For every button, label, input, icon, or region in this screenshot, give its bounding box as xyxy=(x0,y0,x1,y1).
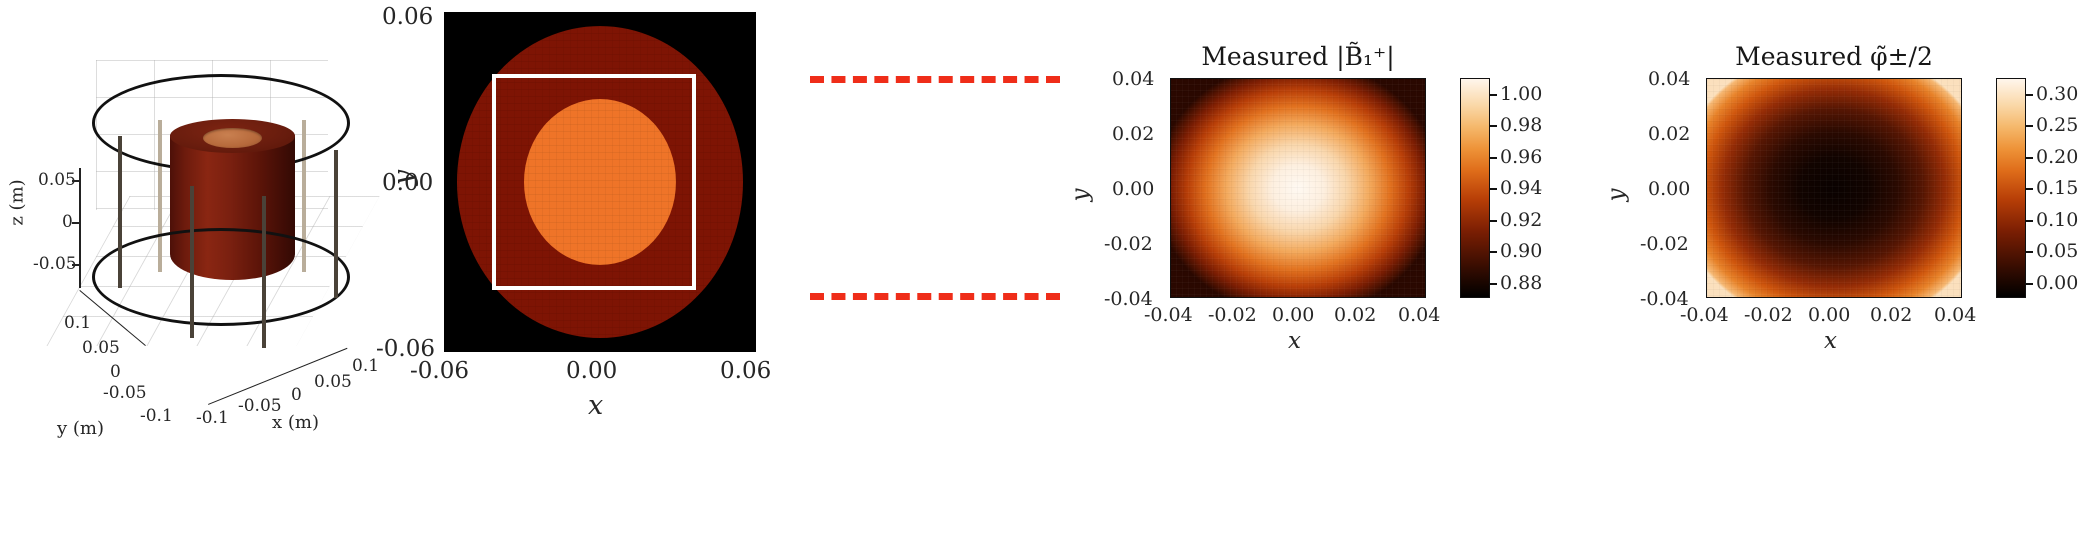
z-tick-label: -0.05 xyxy=(33,254,77,274)
x-axis-label: x xyxy=(588,390,603,421)
z-axis-line xyxy=(79,168,81,288)
y-tick-label: 0.1 xyxy=(64,313,91,333)
y-tick-label: 0.06 xyxy=(382,4,433,30)
coil-rung xyxy=(262,196,266,348)
connector-line-bottom xyxy=(810,293,1060,300)
heatmap-noise xyxy=(1706,78,1962,298)
x-tick-label: 0.04 xyxy=(1934,304,1976,326)
coil-rung xyxy=(190,186,194,338)
x-tick-label: 0.00 xyxy=(566,358,617,384)
z-tick-label: 0.05 xyxy=(38,170,76,190)
x-tick-label: -0.04 xyxy=(1680,304,1729,326)
colorbar-tick xyxy=(2026,251,2033,253)
x-axis-label: x (m) xyxy=(272,412,319,433)
panel-mask-map: 0.06 0.00 -0.06 y -0.06 0.00 0.06 x xyxy=(380,0,810,440)
z-tick-label: 0 xyxy=(62,212,73,232)
y-axis-label: y (m) xyxy=(57,418,104,439)
colorbar-tick xyxy=(1490,251,1497,253)
colorbar-tick-label: 0.05 xyxy=(2036,240,2078,262)
y-tick-label: 0.00 xyxy=(1648,178,1690,200)
colorbar-tick xyxy=(2026,94,2033,96)
y-axis-label: y xyxy=(388,170,419,185)
panel-title: Measured |B̃₁⁺| xyxy=(1170,42,1426,71)
colorbar-tick xyxy=(2026,157,2033,159)
z-axis-label: z (m) xyxy=(7,179,28,225)
x-tick-label: 0.04 xyxy=(1398,304,1440,326)
y-axis-label: y xyxy=(1604,189,1630,202)
heatmap-noise xyxy=(1170,78,1426,298)
mask-image xyxy=(444,12,756,352)
y-axis-label: y xyxy=(1068,189,1094,202)
panel-coil-render: 0.05 0 -0.05 z (m) 0.1 0.05 0 -0.05 -0.1… xyxy=(0,0,380,440)
colorbar-tick xyxy=(1490,220,1497,222)
x-tick-label: 0.02 xyxy=(1334,304,1376,326)
x-tick-label: 0.00 xyxy=(1272,304,1314,326)
y-tick-label: -0.02 xyxy=(1640,233,1689,255)
colorbar-tick-label: 0.25 xyxy=(2036,114,2078,136)
colorbar-tick-label: 0.20 xyxy=(2036,146,2078,168)
coil-rung xyxy=(118,136,122,288)
colorbar-tick xyxy=(1490,125,1497,127)
x-tick-label: -0.04 xyxy=(1144,304,1193,326)
x-tick-label: 0.00 xyxy=(1808,304,1850,326)
y-tick-label: 0.04 xyxy=(1648,68,1690,90)
x-tick-label: 0.02 xyxy=(1870,304,1912,326)
x-tick-label: 0.06 xyxy=(720,358,771,384)
colorbar xyxy=(1996,78,2026,298)
x-axis-label: x xyxy=(1288,328,1301,354)
colorbar-tick xyxy=(1490,157,1497,159)
colorbar-tick xyxy=(1490,94,1497,96)
panel-phase-half: Measured φ̃±/2 0.04 0.02 0.00 -0.02 -0.0… xyxy=(1590,0,2092,440)
figure-root: 0.05 0 -0.05 z (m) 0.1 0.05 0 -0.05 -0.1… xyxy=(0,0,2092,558)
colorbar-tick xyxy=(2026,220,2033,222)
colorbar-tick xyxy=(1490,188,1497,190)
z-axis-tick xyxy=(72,222,80,224)
y-tick-label: 0.00 xyxy=(1112,178,1154,200)
colorbar xyxy=(1460,78,1490,298)
colorbar-tick xyxy=(2026,283,2033,285)
colorbar-tick-label: 0.10 xyxy=(2036,209,2078,231)
x-tick-label: 0.05 xyxy=(314,372,352,392)
colorbar-tick-label: 0.88 xyxy=(1500,272,1542,294)
colorbar-tick-label: 0.15 xyxy=(2036,177,2078,199)
x-tick-label: 0.1 xyxy=(352,356,379,376)
connector-line-top xyxy=(810,76,1060,83)
colorbar-tick-label: 0.94 xyxy=(1500,177,1542,199)
colorbar-tick xyxy=(2026,188,2033,190)
colorbar-tick xyxy=(1490,283,1497,285)
y-tick-label: 0.02 xyxy=(1648,123,1690,145)
y-tick-label: 0 xyxy=(110,362,121,382)
coil-rung xyxy=(334,150,338,298)
b1-heatmap xyxy=(1170,78,1426,298)
roi-box xyxy=(492,74,696,290)
colorbar-tick-label: 0.96 xyxy=(1500,146,1542,168)
colorbar-tick-label: 0.30 xyxy=(2036,83,2078,105)
x-tick-label: -0.02 xyxy=(1744,304,1793,326)
y-tick-label: 0.04 xyxy=(1112,68,1154,90)
panel-b1-magnitude: Measured |B̃₁⁺| 0.04 0.02 0.00 -0.02 -0.… xyxy=(1060,0,1590,440)
colorbar-tick-label: 0.92 xyxy=(1500,209,1542,231)
x-tick-label: -0.06 xyxy=(410,358,469,384)
phase-heatmap xyxy=(1706,78,1962,298)
y-tick-label: -0.05 xyxy=(103,383,147,403)
coil-scene: 0.05 0 -0.05 z (m) 0.1 0.05 0 -0.05 -0.1… xyxy=(0,0,380,440)
colorbar-tick-label: 0.98 xyxy=(1500,114,1542,136)
colorbar-tick-label: 0.00 xyxy=(2036,272,2078,294)
phantom-bore xyxy=(203,128,262,148)
x-tick-label: -0.1 xyxy=(196,408,229,428)
y-tick-label: 0.05 xyxy=(82,338,120,358)
panel-title: Measured φ̃±/2 xyxy=(1706,42,1962,71)
coil-ring-bottom xyxy=(92,228,350,326)
x-tick-label: 0 xyxy=(291,385,302,405)
y-tick-label: -0.1 xyxy=(140,406,173,426)
colorbar-tick-label: 0.90 xyxy=(1500,240,1542,262)
colorbar-tick-label: 1.00 xyxy=(1500,83,1542,105)
y-tick-label: -0.02 xyxy=(1104,233,1153,255)
x-tick-label: -0.02 xyxy=(1208,304,1257,326)
y-tick-label: 0.02 xyxy=(1112,123,1154,145)
colorbar-tick xyxy=(2026,125,2033,127)
x-axis-label: x xyxy=(1824,328,1837,354)
